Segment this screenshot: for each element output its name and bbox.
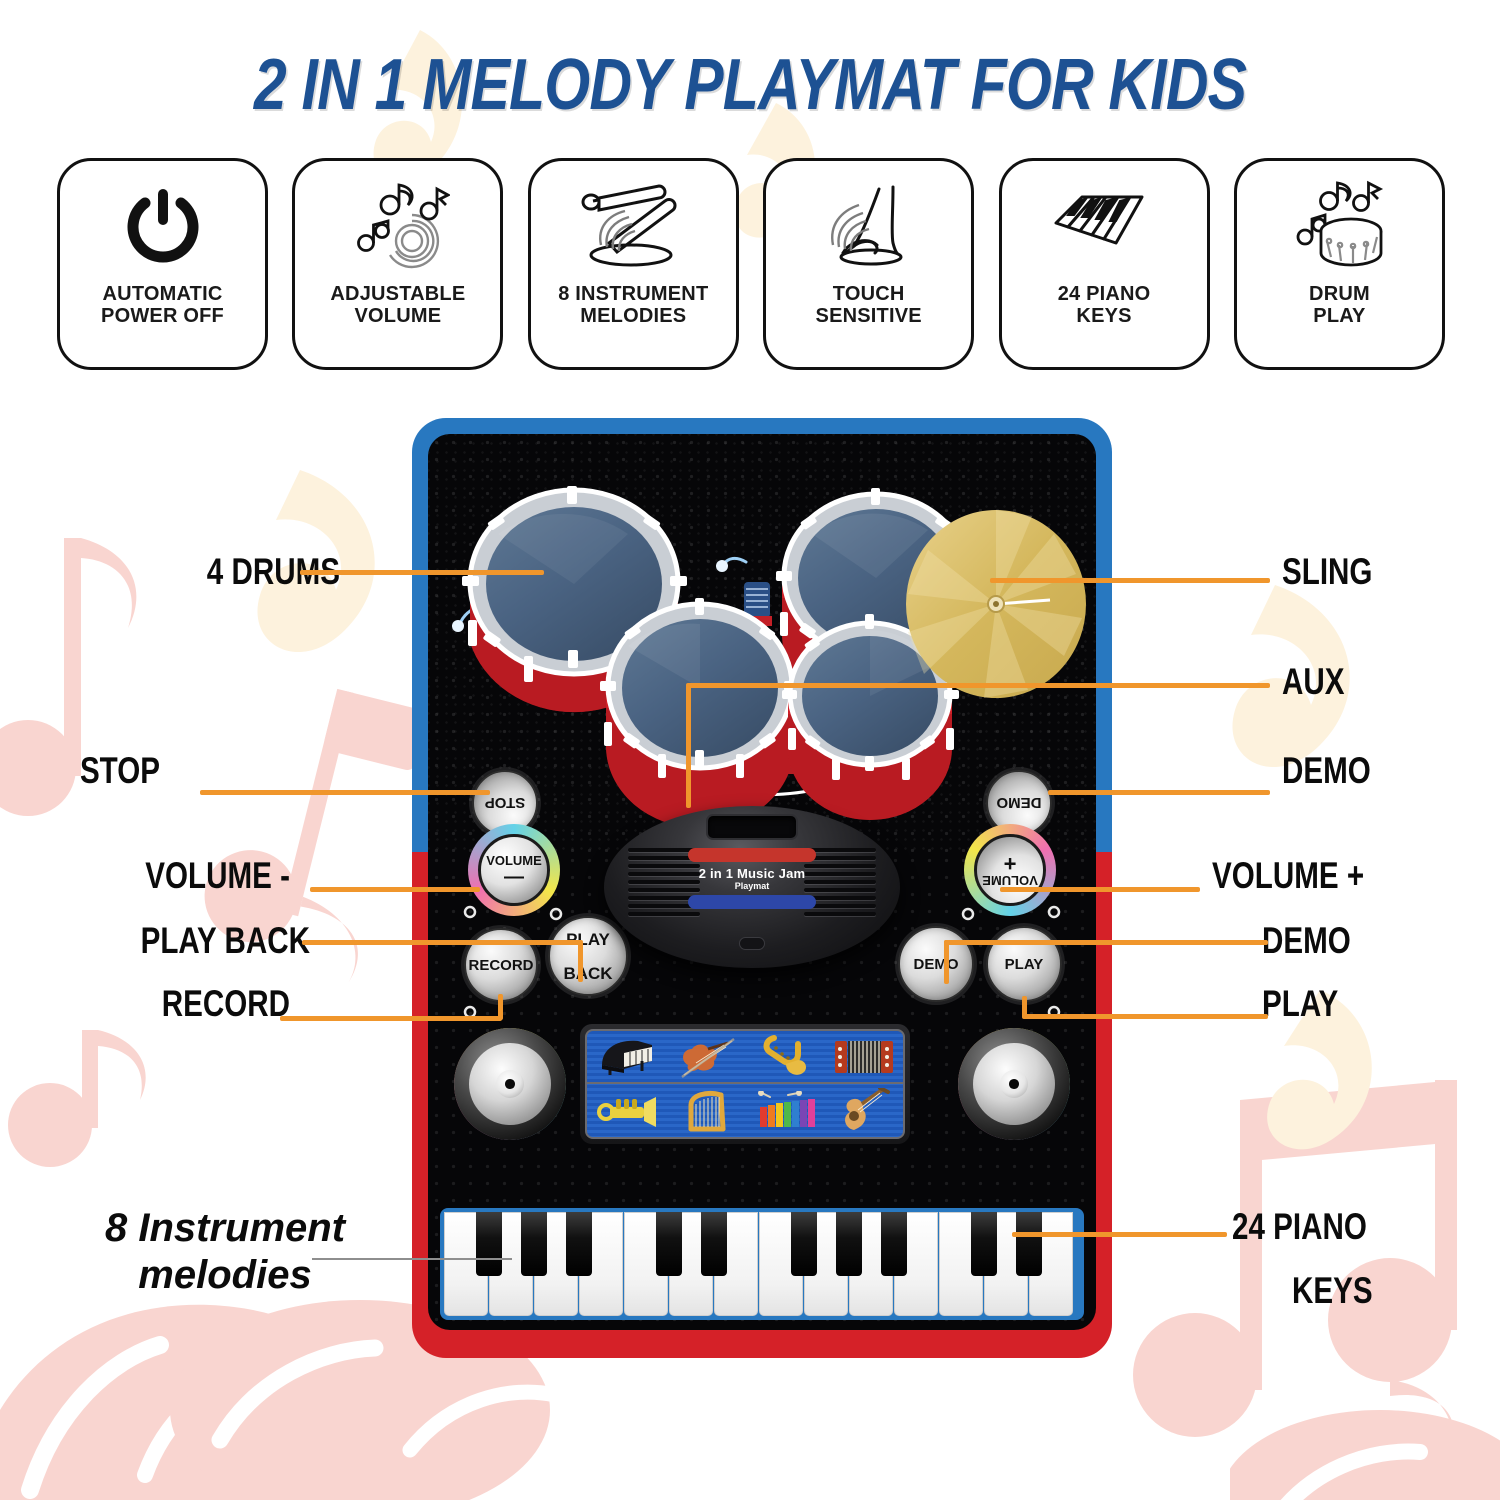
callout-lead-demo-bottom	[944, 940, 1268, 945]
callout-label-8-instrument-melodies: 8 Instrument melodies	[60, 1205, 390, 1299]
callout-label-24-piano-keys: 24 PIANO	[1232, 1208, 1472, 1245]
callout-label-volume-plus: VOLUME +	[1212, 857, 1436, 894]
play-back-button[interactable]: PLAY BACK	[548, 916, 628, 996]
feature-badge-drum-play[interactable]: DRUM PLAY	[1234, 158, 1445, 370]
black-key[interactable]	[656, 1212, 682, 1276]
infographic-root: 2 IN 1 MELODY PLAYMAT FOR KIDS AUTOMATIC…	[0, 0, 1500, 1500]
callout-lead-volume-minus	[310, 887, 480, 892]
piano-keys[interactable]	[444, 1212, 1080, 1316]
callout-lead-24-piano-keys	[1012, 1232, 1227, 1237]
power-switch[interactable]	[739, 937, 765, 950]
bg-note-cream-2	[1130, 560, 1420, 850]
console-branding: 2 in 1 Music Jam Playmat	[688, 848, 816, 909]
feature-badge-row: AUTOMATIC POWER OFF	[57, 158, 1445, 370]
volume-plus-button[interactable]: VOLUME +	[964, 824, 1056, 916]
badge-line-1: AUTOMATIC	[103, 283, 223, 305]
callout-label-stop: STOP	[16, 752, 160, 789]
badge-line-2: SENSITIVE	[816, 305, 922, 327]
black-key[interactable]	[476, 1212, 502, 1276]
callout-lead-stop	[200, 790, 490, 795]
callout-label-play-back: PLAY BACK	[78, 922, 310, 959]
piano-keyboard[interactable]	[440, 1208, 1084, 1320]
instrument-saxophone[interactable]	[745, 1031, 824, 1084]
drumstick-icon	[579, 173, 687, 281]
feature-badge-automatic-power-off[interactable]: AUTOMATIC POWER OFF	[57, 158, 268, 370]
feature-badge-touch-sensitive[interactable]: TOUCH SENSITIVE	[763, 158, 974, 370]
bg-note-pink-5	[1230, 1340, 1500, 1500]
central-console[interactable]: 2 in 1 Music Jam Playmat	[604, 806, 900, 968]
volume-notes-icon	[346, 173, 450, 281]
stop-button-label: STOP	[485, 796, 526, 811]
sling-cymbal	[906, 510, 1086, 698]
instrument-harp[interactable]	[666, 1084, 745, 1137]
record-button-label: RECORD	[468, 958, 533, 973]
volume-minus-label: VOLUME —	[486, 854, 542, 887]
minus-icon: —	[504, 866, 524, 888]
piano-keys-line-2: KEYS	[1292, 1270, 1373, 1311]
console-blue-bar	[688, 895, 816, 909]
feature-badge-label-4: TOUCH SENSITIVE	[810, 283, 928, 328]
badge-line-1: TOUCH	[833, 283, 905, 305]
callout-lead-record	[280, 1016, 502, 1021]
callout-label-record: RECORD	[90, 985, 290, 1022]
playmat-drum-section: STOP DEMO	[412, 418, 1112, 870]
volume-plus-label: VOLUME +	[982, 853, 1038, 888]
badge-line-1: 24 PIANO	[1058, 283, 1151, 305]
feature-badge-label-6: DRUM PLAY	[1303, 283, 1376, 328]
console-brand-line-1: 2 in 1 Music Jam	[688, 866, 816, 881]
black-key[interactable]	[1016, 1212, 1042, 1276]
callout-lead-sling	[990, 578, 1270, 583]
instrument-select-panel[interactable]	[580, 1024, 910, 1144]
play-back-button-label: PLAY BACK	[563, 931, 612, 982]
speaker-right	[958, 1028, 1070, 1140]
black-key[interactable]	[566, 1212, 592, 1276]
feature-badge-label-5: 24 PIANO KEYS	[1052, 283, 1157, 328]
badge-line-2: PLAY	[1313, 305, 1365, 327]
play-button[interactable]: PLAY	[986, 926, 1062, 1002]
callout-label-demo-bottom: DEMO	[1262, 922, 1446, 959]
callout-lead-demo-bottom-v	[944, 940, 949, 984]
callout-label-sling: SLING	[1282, 553, 1482, 590]
drum-notes-icon	[1285, 173, 1393, 281]
black-key[interactable]	[971, 1212, 997, 1276]
badge-line-2: MELODIES	[580, 305, 686, 327]
feature-badge-label-3: 8 INSTRUMENT MELODIES	[552, 283, 714, 328]
instrument-piano[interactable]	[587, 1031, 666, 1084]
play-back-line-2: BACK	[563, 965, 612, 982]
page-title: 2 IN 1 MELODY PLAYMAT FOR KIDS	[254, 44, 1246, 126]
power-icon	[117, 173, 209, 281]
console-brand-line-2: Playmat	[688, 881, 816, 891]
black-key[interactable]	[791, 1212, 817, 1276]
instrument-violin[interactable]	[666, 1031, 745, 1084]
callout-lead-demo-top	[1048, 790, 1270, 795]
badge-line-1: 8 INSTRUMENT	[558, 283, 708, 305]
callout-label-play: PLAY	[1262, 985, 1422, 1022]
feature-badge-24-piano-keys[interactable]: 24 PIANO KEYS	[999, 158, 1210, 370]
console-red-bar	[688, 848, 816, 862]
feature-badge-8-instrument-melodies[interactable]: 8 INSTRUMENT MELODIES	[528, 158, 739, 370]
badge-line-2: POWER OFF	[101, 305, 224, 327]
callout-lead-play-back-v	[578, 940, 583, 982]
callout-lead-aux-v	[686, 683, 691, 808]
callout-label-aux: AUX	[1282, 663, 1442, 700]
instrument-trumpet[interactable]	[587, 1084, 666, 1137]
demo-button-bottom[interactable]: DEMO	[898, 926, 974, 1002]
callout-lead-play-back	[302, 940, 582, 945]
badge-line-1: ADJUSTABLE	[330, 283, 465, 305]
callout-label-volume-minus: VOLUME -	[90, 857, 290, 894]
page-title-wrap: 2 IN 1 MELODY PLAYMAT FOR KIDS	[0, 44, 1500, 126]
badge-line-1: DRUM	[1309, 283, 1370, 305]
instrument-guitar[interactable]	[824, 1084, 903, 1137]
demo-button-top-label: DEMO	[997, 796, 1042, 811]
drum-3	[600, 598, 800, 828]
badge-line-2: KEYS	[1076, 305, 1131, 327]
speaker-left	[454, 1028, 566, 1140]
plus-icon: +	[1004, 852, 1017, 877]
callout-lead-aux	[688, 683, 1270, 688]
bg-note-pink-2	[0, 1030, 190, 1170]
feature-badge-label-1: AUTOMATIC POWER OFF	[95, 283, 230, 328]
piano-keys-icon	[1050, 173, 1158, 281]
callout-lead-play	[1022, 1014, 1268, 1019]
callout-label-demo-top: DEMO	[1282, 752, 1458, 789]
black-key[interactable]	[881, 1212, 907, 1276]
callout-lead-volume-plus	[1000, 887, 1200, 892]
instrument-accordion[interactable]	[824, 1031, 903, 1084]
instrument-xylophone[interactable]	[745, 1084, 824, 1137]
black-key[interactable]	[701, 1212, 727, 1276]
play-button-label: PLAY	[1005, 957, 1044, 972]
italic-line-2: melodies	[60, 1252, 390, 1299]
volume-minus-button[interactable]: VOLUME —	[468, 824, 560, 916]
feature-badge-label-2: ADJUSTABLE VOLUME	[324, 283, 471, 328]
piano-keys-line-1: 24 PIANO	[1232, 1206, 1367, 1247]
hand-touch-icon	[817, 173, 921, 281]
callout-lead-4-drums	[300, 570, 544, 575]
italic-line-1: 8 Instrument	[60, 1205, 390, 1252]
feature-badge-adjustable-volume[interactable]: ADJUSTABLE VOLUME	[292, 158, 503, 370]
badge-line-2: VOLUME	[355, 305, 442, 327]
callout-label-keys: KEYS	[1292, 1272, 1500, 1309]
black-key[interactable]	[836, 1212, 862, 1276]
carry-handle[interactable]	[706, 814, 798, 840]
callout-lead-record-v	[498, 994, 503, 1020]
black-key[interactable]	[521, 1212, 547, 1276]
demo-button-bottom-label: DEMO	[914, 957, 959, 972]
drum-panel[interactable]: STOP DEMO	[428, 434, 1096, 870]
